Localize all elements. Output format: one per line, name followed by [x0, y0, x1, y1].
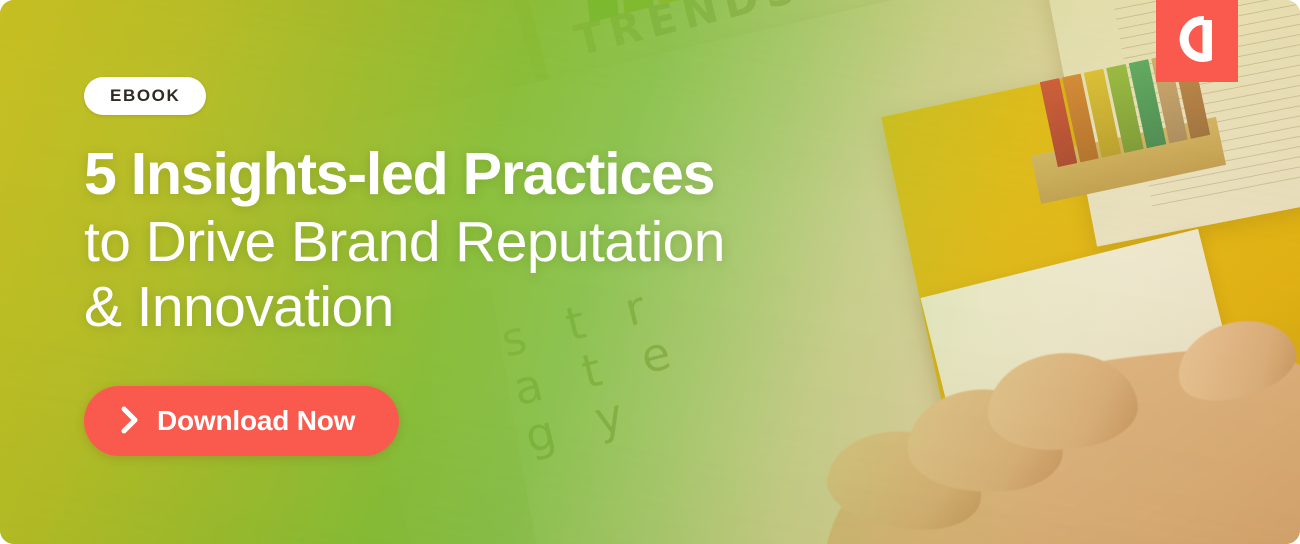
download-now-label: Download Now [157, 405, 355, 437]
dynata-logo-mark [1174, 16, 1220, 66]
chevron-right-icon [120, 405, 140, 438]
ebook-promo-banner: TRENDS s t r a t e g y EBOOK [0, 0, 1300, 544]
headline-line-1: 5 Insights-led Practices [84, 145, 1300, 204]
download-now-button[interactable]: Download Now [84, 386, 399, 456]
banner-content: EBOOK 5 Insights-led Practices to Drive … [0, 0, 1300, 544]
headline-line-3: & Innovation [84, 279, 1300, 336]
headline-line-2: to Drive Brand Reputation [84, 214, 1300, 271]
ebook-badge: EBOOK [84, 77, 206, 115]
page-title: 5 Insights-led Practices to Drive Brand … [84, 145, 1300, 336]
dynata-logo[interactable] [1156, 0, 1238, 82]
